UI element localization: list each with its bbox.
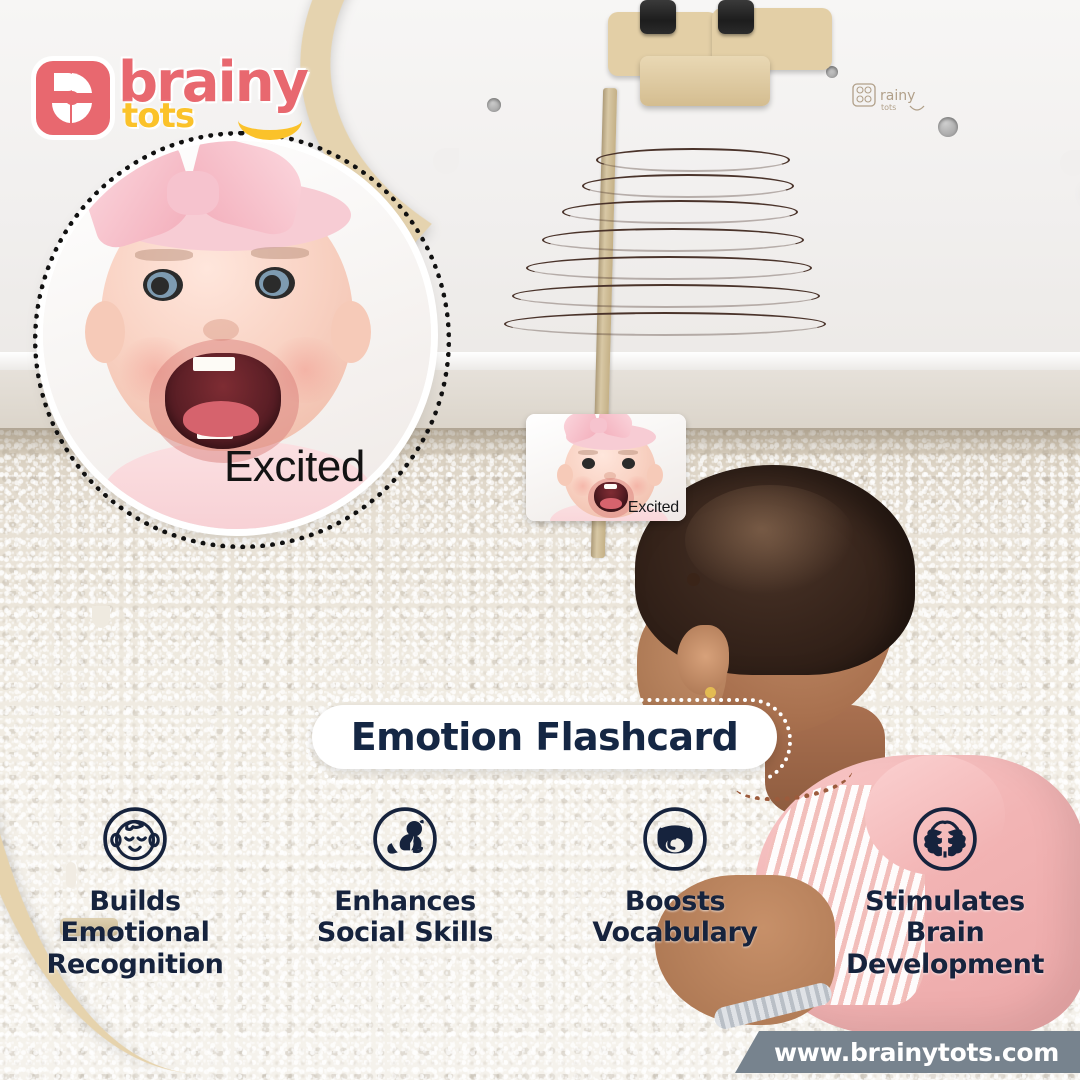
feature-row: Builds Emotional Recognition Enhances So… <box>0 806 1080 1021</box>
baby-ear <box>677 625 729 695</box>
title-pill: Emotion Flashcard <box>312 705 777 769</box>
page-title: Emotion Flashcard <box>351 715 738 759</box>
title-banner: Emotion Flashcard <box>312 705 777 769</box>
arch-notch-icon <box>433 148 459 174</box>
feature-item: Boosts Vocabulary <box>549 806 801 949</box>
feature-item: Stimulates Brain Development <box>819 806 1071 980</box>
poster-canvas: rainy tots <box>0 0 1080 1080</box>
arch-notch-icon <box>1060 150 1080 176</box>
svg-text:tots: tots <box>881 103 896 112</box>
feature-item: Builds Emotional Recognition <box>9 806 261 980</box>
emotion-flashcard[interactable]: Excited <box>526 414 686 521</box>
brand-logo[interactable]: brainy tots <box>36 52 314 140</box>
brainy-flower-b-icon <box>36 61 110 135</box>
gym-knob <box>640 0 676 34</box>
arch-hole-icon <box>938 117 958 137</box>
baby-face-icon <box>102 806 168 872</box>
baby-earring <box>705 687 716 698</box>
feature-label: Stimulates Brain Development <box>846 886 1044 980</box>
baby-mole <box>687 573 700 586</box>
feature-label: Builds Emotional Recognition <box>47 886 224 980</box>
wire-spiral-toy-icon <box>500 140 830 350</box>
baby-hair-sheen <box>685 485 855 595</box>
gym-knob <box>718 0 754 34</box>
brand-wordmark: brainy tots <box>118 52 318 140</box>
brand-name-secondary: tots <box>122 96 194 136</box>
feature-label: Boosts Vocabulary <box>592 886 757 949</box>
brainy-tots-engraving-icon: rainy tots <box>852 78 932 118</box>
magnifier-label: Excited <box>224 442 365 492</box>
flashcard-label: Excited <box>628 499 679 517</box>
gym-bracket-plate <box>640 56 770 106</box>
brain-icon <box>912 806 978 872</box>
website-footer-bar[interactable]: www.brainytots.com <box>735 1031 1080 1073</box>
website-url: www.brainytots.com <box>756 1038 1059 1067</box>
svg-text:rainy: rainy <box>880 88 915 104</box>
arch-hole-icon <box>487 98 501 112</box>
gym-leg-notch <box>92 606 110 628</box>
feature-item: Enhances Social Skills <box>279 806 531 949</box>
baby-rattle-icon <box>642 806 708 872</box>
crawling-baby-icon <box>372 806 438 872</box>
smile-icon <box>238 100 302 140</box>
feature-label: Enhances Social Skills <box>317 886 493 949</box>
